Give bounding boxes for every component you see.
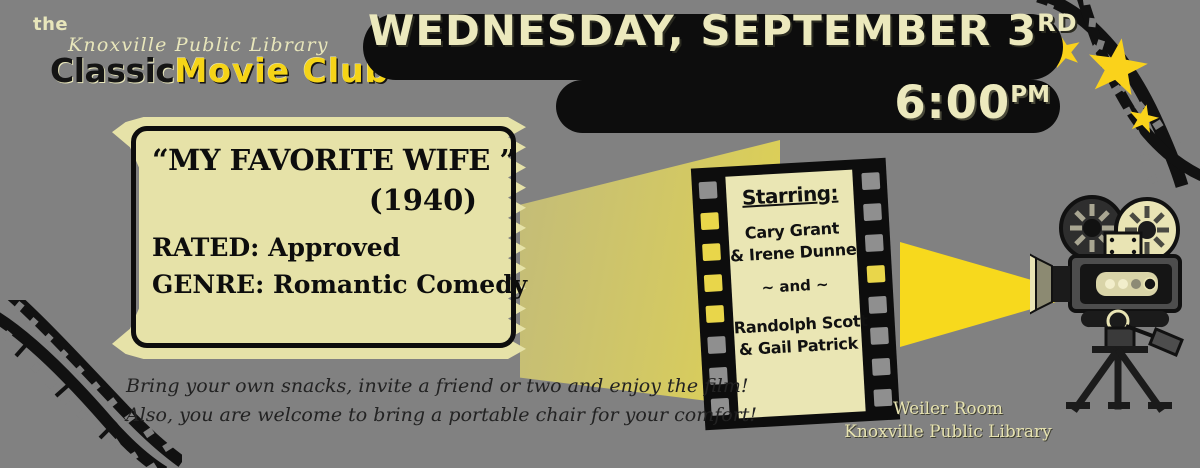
sprocket-hole <box>706 305 725 323</box>
venue-info: Weiler Room Knoxville Public Library <box>818 398 1078 444</box>
sprocket-hole <box>702 243 721 261</box>
event-blurb: Bring your own snacks, invite a friend o… <box>126 372 696 431</box>
sprocket-hole <box>699 181 718 199</box>
event-flyer: the Knoxville Public Library ClassicMovi… <box>0 0 1200 468</box>
venue-organization: Knoxville Public Library <box>818 421 1078 444</box>
sprocket-hole <box>707 336 726 354</box>
event-time-meridiem: PM <box>1010 82 1050 108</box>
logo-classic-word: Classic <box>50 51 174 90</box>
blurb-line-2: Also, you are welcome to bring a portabl… <box>126 401 696 430</box>
movie-ticket-details: “MY FAVORITE WIFE ” (1940) RATED: Approv… <box>131 126 516 348</box>
starring-actor-2: & Irene Dunne <box>729 240 857 266</box>
logo-the-text: the <box>33 14 68 35</box>
venue-room: Weiler Room <box>818 398 1078 421</box>
event-date: WEDNESDAY, SEPTEMBER 3RD <box>368 6 968 55</box>
event-date-main: WEDNESDAY, SEPTEMBER 3 <box>368 6 1037 55</box>
sprocket-hole <box>700 212 719 230</box>
event-time: 6:00PM <box>560 76 1050 129</box>
logo-movie-club-word: Movie Club <box>174 51 389 90</box>
starring-heading: Starring: <box>726 180 854 211</box>
sprocket-hole <box>870 327 889 345</box>
starring-actor-4: & Gail Patrick <box>734 333 862 359</box>
sprocket-hole <box>865 234 884 252</box>
movie-year: (1940) <box>152 183 495 217</box>
sprocket-hole <box>867 265 886 283</box>
sprocket-hole <box>861 172 880 190</box>
movie-genre: GENRE: Romantic Comedy <box>152 270 495 299</box>
sprocket-hole <box>704 274 723 292</box>
logo-club-name: ClassicMovie Club <box>50 54 389 87</box>
sprocket-hole <box>872 358 891 376</box>
sprocket-hole <box>868 296 887 314</box>
blurb-line-1: Bring your own snacks, invite a friend o… <box>126 372 696 401</box>
library-logo: the Knoxville Public Library ClassicMovi… <box>28 12 318 90</box>
star-small-icon <box>1125 101 1162 137</box>
movie-rating: RATED: Approved <box>152 233 495 262</box>
movie-title: “MY FAVORITE WIFE ” <box>152 143 495 177</box>
movie-projector-icon <box>1030 188 1195 413</box>
starring-separator: ~ and ~ <box>731 273 859 298</box>
event-date-ordinal: RD <box>1037 9 1077 37</box>
sprocket-hole <box>863 203 882 221</box>
event-time-main: 6:00 <box>894 76 1010 129</box>
star-large-icon <box>1082 34 1153 103</box>
